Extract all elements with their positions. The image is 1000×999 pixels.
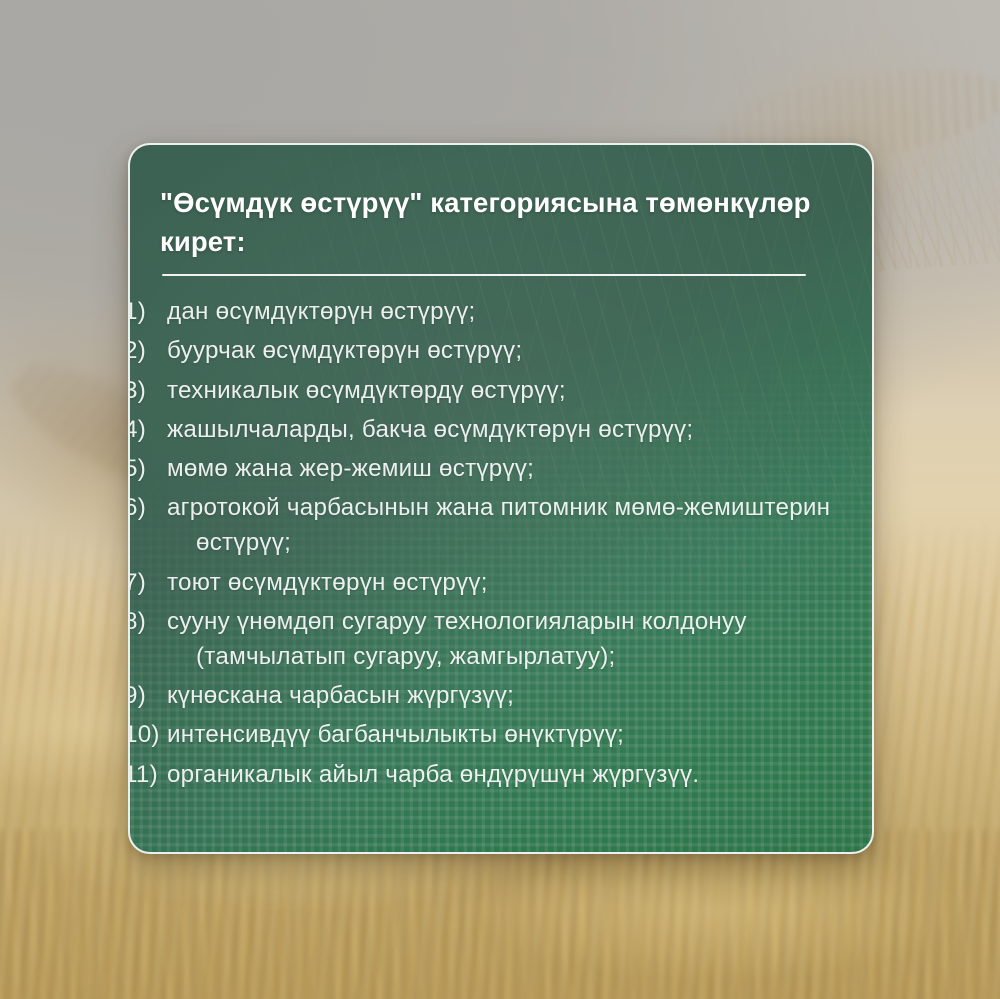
card-content: "Өсүмдүк өстүрүү" категориясына төмөнкүл… xyxy=(130,145,872,792)
list-item: 8) сууну үнөмдөп сугаруу технологияларын… xyxy=(160,604,834,674)
list-item-text: техникалык өсүмдүктөрдү өстүрүү; xyxy=(160,377,566,404)
category-list: 1) дан өсүмдүктөрүн өстүрүү;2) буурчак ө… xyxy=(160,294,834,792)
poster: "Өсүмдүк өстүрүү" категориясына төмөнкүл… xyxy=(0,0,1000,999)
list-item: 1) дан өсүмдүктөрүн өстүрүү; xyxy=(160,294,834,329)
list-item-text: интенсивдүү багбанчылыкты өнүктүрүү; xyxy=(160,721,624,748)
title-divider xyxy=(162,274,806,276)
list-item-text: дан өсүмдүктөрүн өстүрүү; xyxy=(160,298,475,325)
list-item: 3) техникалык өсүмдүктөрдү өстүрүү; xyxy=(160,373,834,408)
list-item: 10) интенсивдүү багбанчылыкты өнүктүрүү; xyxy=(160,717,834,752)
list-item-text: күнөскана чарбасын жүргүзүү; xyxy=(160,682,514,709)
list-item: 5) мөмө жана жер-жемиш өстүрүү; xyxy=(160,451,834,486)
list-item-text: буурчак өсүмдүктөрүн өстүрүү; xyxy=(160,337,522,364)
list-item-text: органикалык айыл чарба өндүрүшүн жүргүзү… xyxy=(160,761,699,788)
list-item: 11) органикалык айыл чарба өндүрүшүн жүр… xyxy=(160,757,834,792)
list-item-text: жашылчаларды, бакча өсүмдүктөрүн өстүрүү… xyxy=(160,416,693,443)
list-item: 6) агротокой чарбасынын жана питомник мө… xyxy=(160,490,834,560)
list-item: 2) буурчак өсүмдүктөрүн өстүрүү; xyxy=(160,333,834,368)
list-item-text: мөмө жана жер-жемиш өстүрүү; xyxy=(160,455,534,482)
list-item-text: сууну үнөмдөп сугаруу технологияларын ко… xyxy=(160,608,747,670)
list-item: 9) күнөскана чарбасын жүргүзүү; xyxy=(160,678,834,713)
list-item-text: тоют өсүмдүктөрүн өстүрүү; xyxy=(160,569,488,596)
list-item: 4) жашылчаларды, бакча өсүмдүктөрүн өстү… xyxy=(160,412,834,447)
list-item-text: агротокой чарбасынын жана питомник мөмө-… xyxy=(160,494,830,556)
list-item: 7) тоют өсүмдүктөрүн өстүрүү; xyxy=(160,565,834,600)
card-title: "Өсүмдүк өстүрүү" категориясына төмөнкүл… xyxy=(160,183,834,261)
info-card: "Өсүмдүк өстүрүү" категориясына төмөнкүл… xyxy=(128,143,874,854)
